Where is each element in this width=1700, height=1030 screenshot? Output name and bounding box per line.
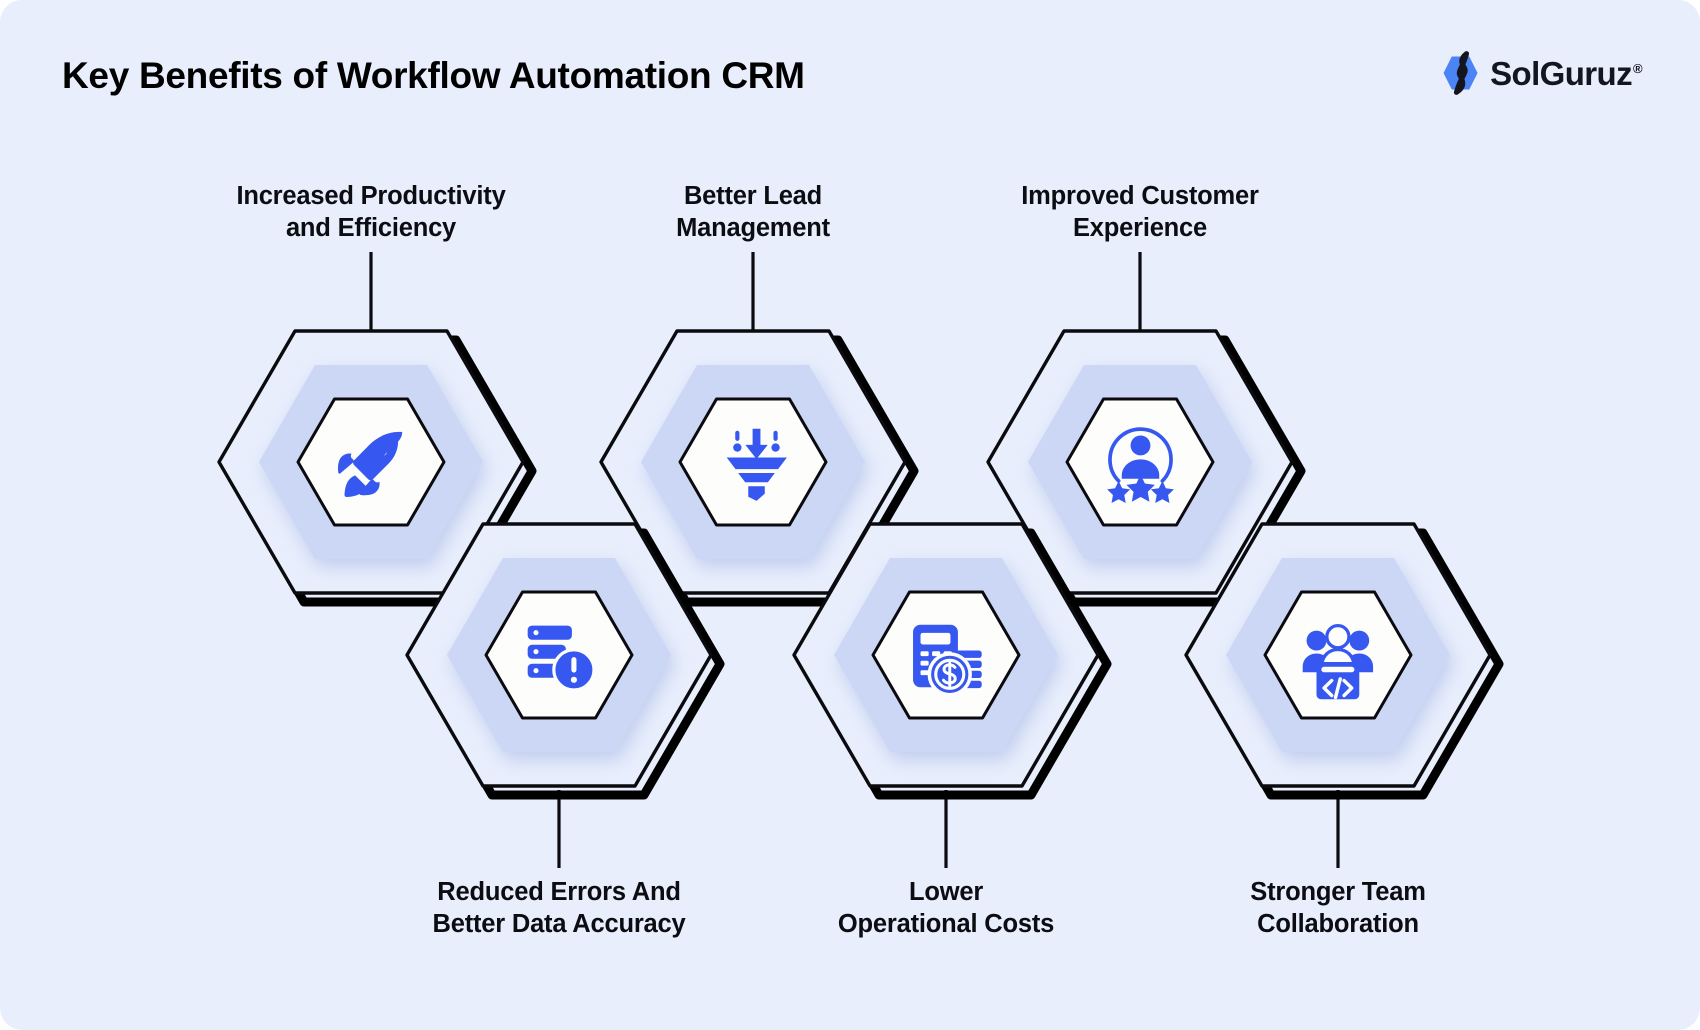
label-better-lead-management: Better Lead Management	[676, 180, 830, 245]
label-increased-productivity: Increased Productivity and Efficiency	[236, 180, 505, 245]
infographic-canvas: Key Benefits of Workflow Automation CRM …	[0, 0, 1700, 1030]
label-improved-customer-experience: Improved Customer Experience	[1021, 180, 1258, 245]
hexagon-diagram: Increased Productivity and Efficiency Be…	[0, 0, 1700, 1030]
label-stronger-team-collaboration: Stronger Team Collaboration	[1250, 876, 1425, 941]
label-lower-operational-costs: Lower Operational Costs	[838, 876, 1054, 941]
label-reduced-errors: Reduced Errors And Better Data Accuracy	[432, 876, 685, 941]
